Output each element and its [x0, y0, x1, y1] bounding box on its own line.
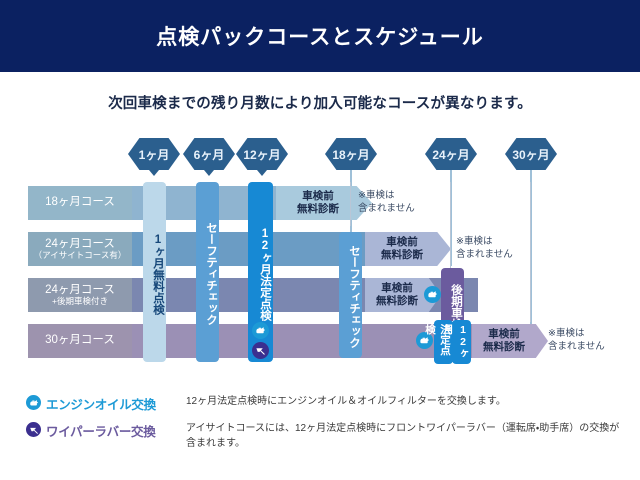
wiper-icon [26, 422, 41, 437]
note-line2: 含まれません [358, 203, 448, 216]
arrow-label-line2: 無料診断 [376, 295, 418, 308]
legend-item-engine-oil: エンジンオイル交換 12ヶ月法定点検時にエンジンオイル＆オイルフィルターを交換し… [26, 394, 626, 413]
pre-inspection-free-diagnosis-row4: 車検前 無料診断 [472, 324, 548, 358]
timeline-notch [257, 170, 267, 176]
arrow-label-line1: 車検前 [376, 282, 418, 295]
legend-item-wiper-rubber: ワイパーラバー交換 アイサイトコースには、12ヶ月法定点検時にフロントワイパーラ… [26, 421, 626, 451]
block-label: 1ヶ月無料点検 [150, 234, 166, 315]
note-line1: ※車検は [358, 190, 448, 203]
oil-can-icon [252, 322, 269, 339]
block-safety-check-mid: セーフティチェック [339, 232, 362, 358]
timeline-notch [204, 170, 214, 176]
block-label: 12ヶ月法定点検 [257, 228, 273, 321]
timeline-label: 18ヶ月 [332, 146, 369, 163]
timeline-marker-6m: 6ヶ月 [183, 138, 235, 170]
row-label-24m-kouki: 24ヶ月コース +後期車検付き [28, 278, 132, 312]
block-label: 12ヶ月 [441, 324, 471, 364]
legend-title: エンジンオイル交換 [46, 394, 186, 413]
block-label: セーフティチェック [346, 245, 362, 349]
note-line1: ※車検は [456, 236, 546, 249]
legend: エンジンオイル交換 12ヶ月法定点検時にエンジンオイル＆オイルフィルターを交換し… [26, 394, 626, 459]
oil-can-icon [424, 286, 441, 303]
timeline-marker-1m: 1ヶ月 [128, 138, 180, 170]
page-header: 点検パックコースとスケジュール [0, 0, 640, 72]
table-row: 24ヶ月コース +後期車検付き [28, 278, 612, 312]
row-label-text: 30ヶ月コース [45, 334, 115, 347]
timeline-notch [149, 170, 159, 176]
arrow-label-line1: 車検前 [297, 190, 339, 203]
block-12month-legal-inspection-row4-b: 12ヶ月 [452, 320, 471, 364]
infographic-page: 点検パックコースとスケジュール 次回車検までの残り月数により加入可能なコースが異… [0, 0, 640, 480]
page-title: 点検パックコースとスケジュール [156, 21, 483, 51]
arrow-label-line2: 無料診断 [297, 203, 339, 216]
arrow-label-line1: 車検前 [381, 236, 423, 249]
note-line1: ※車検は [548, 328, 638, 341]
note-no-shaken-row1: ※車検は 含まれません [358, 190, 448, 216]
oil-can-icon [26, 395, 41, 410]
pre-inspection-free-diagnosis-row2: 車検前 無料診断 [365, 232, 451, 266]
guide-line-18m [350, 182, 351, 226]
subtitle: 次回車検までの残り月数により加入可能なコースが異なります。 [0, 92, 640, 113]
legend-description: 12ヶ月法定点検時にエンジンオイル＆オイルフィルターを交換します。 [186, 394, 626, 409]
row-label-text: 18ヶ月コース [45, 196, 115, 209]
note-no-shaken-row4: ※車検は 含まれません [548, 328, 638, 354]
arrow-label-line2: 無料診断 [483, 341, 525, 354]
timeline-label: 1ヶ月 [139, 146, 170, 163]
guide-line-24m [450, 182, 451, 268]
row-label-18m: 18ヶ月コース [28, 186, 132, 220]
row-label-text: 24ヶ月コース [45, 238, 115, 251]
timeline-marker-12m: 12ヶ月 [236, 138, 288, 170]
block-safety-check-early: セーフティチェック [196, 182, 219, 362]
wiper-icon [252, 342, 269, 359]
row-label-30m: 30ヶ月コース [28, 324, 132, 358]
legend-title: ワイパーラバー交換 [46, 421, 186, 440]
guide-line-30m [530, 182, 531, 322]
timeline-label: 6ヶ月 [194, 146, 225, 163]
note-line2: 含まれません [456, 249, 546, 262]
block-1month-free-inspection: 1ヶ月無料点検 [143, 182, 166, 362]
timeline-label: 30ヶ月 [512, 146, 549, 163]
row-label-text: 24ヶ月コース [45, 284, 115, 297]
arrow-label-line2: 無料診断 [381, 249, 423, 262]
note-line2: 含まれません [548, 341, 638, 354]
arrow-label-line1: 車検前 [483, 328, 525, 341]
row-label-sub: （アイサイトコース有） [34, 251, 127, 261]
schedule-chart: 18ヶ月コース 24ヶ月コース （アイサイトコース有） 24ヶ月コース +後期車… [0, 182, 640, 368]
legend-description: アイサイトコースには、12ヶ月法定点検時にフロントワイパーラバー（運転席・助手席… [186, 421, 626, 451]
row-label-24m-eyesight: 24ヶ月コース （アイサイトコース有） [28, 232, 132, 266]
timeline-label: 12ヶ月 [243, 146, 280, 163]
timeline-marker-30m: 30ヶ月 [505, 138, 557, 170]
timeline-marker-18m: 18ヶ月 [325, 138, 377, 170]
note-no-shaken-row2: ※車検は 含まれません [456, 236, 546, 262]
timeline-label: 24ヶ月 [432, 146, 469, 163]
row-label-sub: +後期車検付き [52, 297, 108, 307]
block-label: セーフティチェック [203, 222, 219, 326]
timeline-marker-24m: 24ヶ月 [425, 138, 477, 170]
